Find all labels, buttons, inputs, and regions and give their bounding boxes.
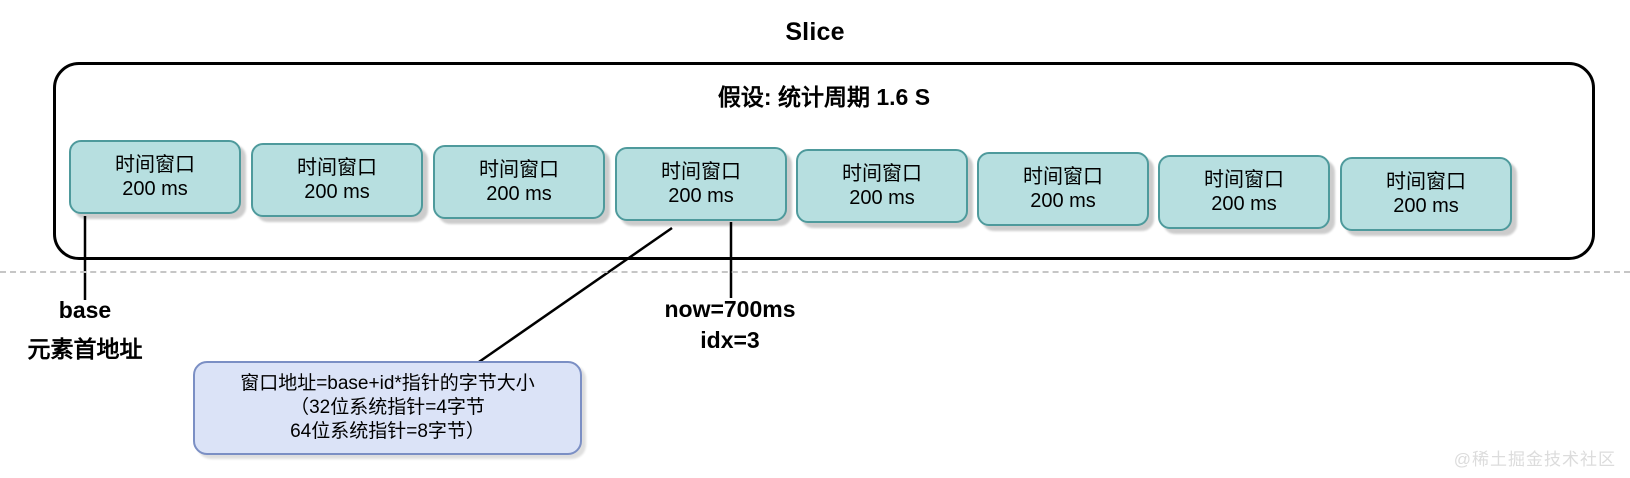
time-window-box-2: 时间窗口 200 ms — [251, 143, 423, 217]
time-window-label-1: 时间窗口 — [115, 153, 195, 177]
time-window-label-2: 时间窗口 — [297, 156, 377, 180]
time-window-label-8: 时间窗口 — [1386, 170, 1466, 194]
dashed-baseline — [0, 271, 1630, 273]
time-window-duration-8: 200 ms — [1393, 194, 1459, 218]
time-window-duration-7: 200 ms — [1211, 192, 1277, 216]
formula-line-1: 窗口地址=base+id*指针的字节大小 — [240, 372, 535, 396]
time-window-box-1: 时间窗口 200 ms — [69, 140, 241, 214]
base-sub-label: 元素首地址 — [0, 330, 170, 364]
time-window-duration-3: 200 ms — [486, 182, 552, 206]
time-window-duration-1: 200 ms — [122, 177, 188, 201]
watermark: @稀土掘金技术社区 — [1454, 445, 1616, 470]
base-label: base — [0, 297, 170, 324]
now-label: now=700ms — [585, 296, 875, 323]
time-window-duration-2: 200 ms — [304, 180, 370, 204]
time-window-label-4: 时间窗口 — [661, 160, 741, 184]
diagram-canvas: Slice 假设: 统计周期 1.6 S 时间窗口 200 ms 时间窗口 20… — [0, 0, 1630, 478]
time-window-box-6: 时间窗口 200 ms — [977, 152, 1149, 226]
formula-line-3: 64位系统指针=8字节） — [290, 420, 485, 444]
time-window-box-7: 时间窗口 200 ms — [1158, 155, 1330, 229]
time-window-box-5: 时间窗口 200 ms — [796, 149, 968, 223]
time-window-duration-4: 200 ms — [668, 184, 734, 208]
time-window-box-3: 时间窗口 200 ms — [433, 145, 605, 219]
time-window-box-4: 时间窗口 200 ms — [615, 147, 787, 221]
time-window-label-7: 时间窗口 — [1204, 168, 1284, 192]
time-window-label-5: 时间窗口 — [842, 162, 922, 186]
slice-subtitle: 假设: 统计周期 1.6 S — [53, 78, 1595, 112]
time-window-label-3: 时间窗口 — [479, 158, 559, 182]
time-window-label-6: 时间窗口 — [1023, 165, 1103, 189]
formula-callout: 窗口地址=base+id*指针的字节大小 （32位系统指针=4字节 64位系统指… — [193, 361, 582, 455]
time-window-box-8: 时间窗口 200 ms — [1340, 157, 1512, 231]
formula-line-2: （32位系统指针=4字节 — [290, 396, 485, 420]
time-window-duration-6: 200 ms — [1030, 189, 1096, 213]
idx-label: idx=3 — [585, 327, 875, 354]
page-title: Slice — [0, 18, 1630, 47]
time-window-duration-5: 200 ms — [849, 186, 915, 210]
